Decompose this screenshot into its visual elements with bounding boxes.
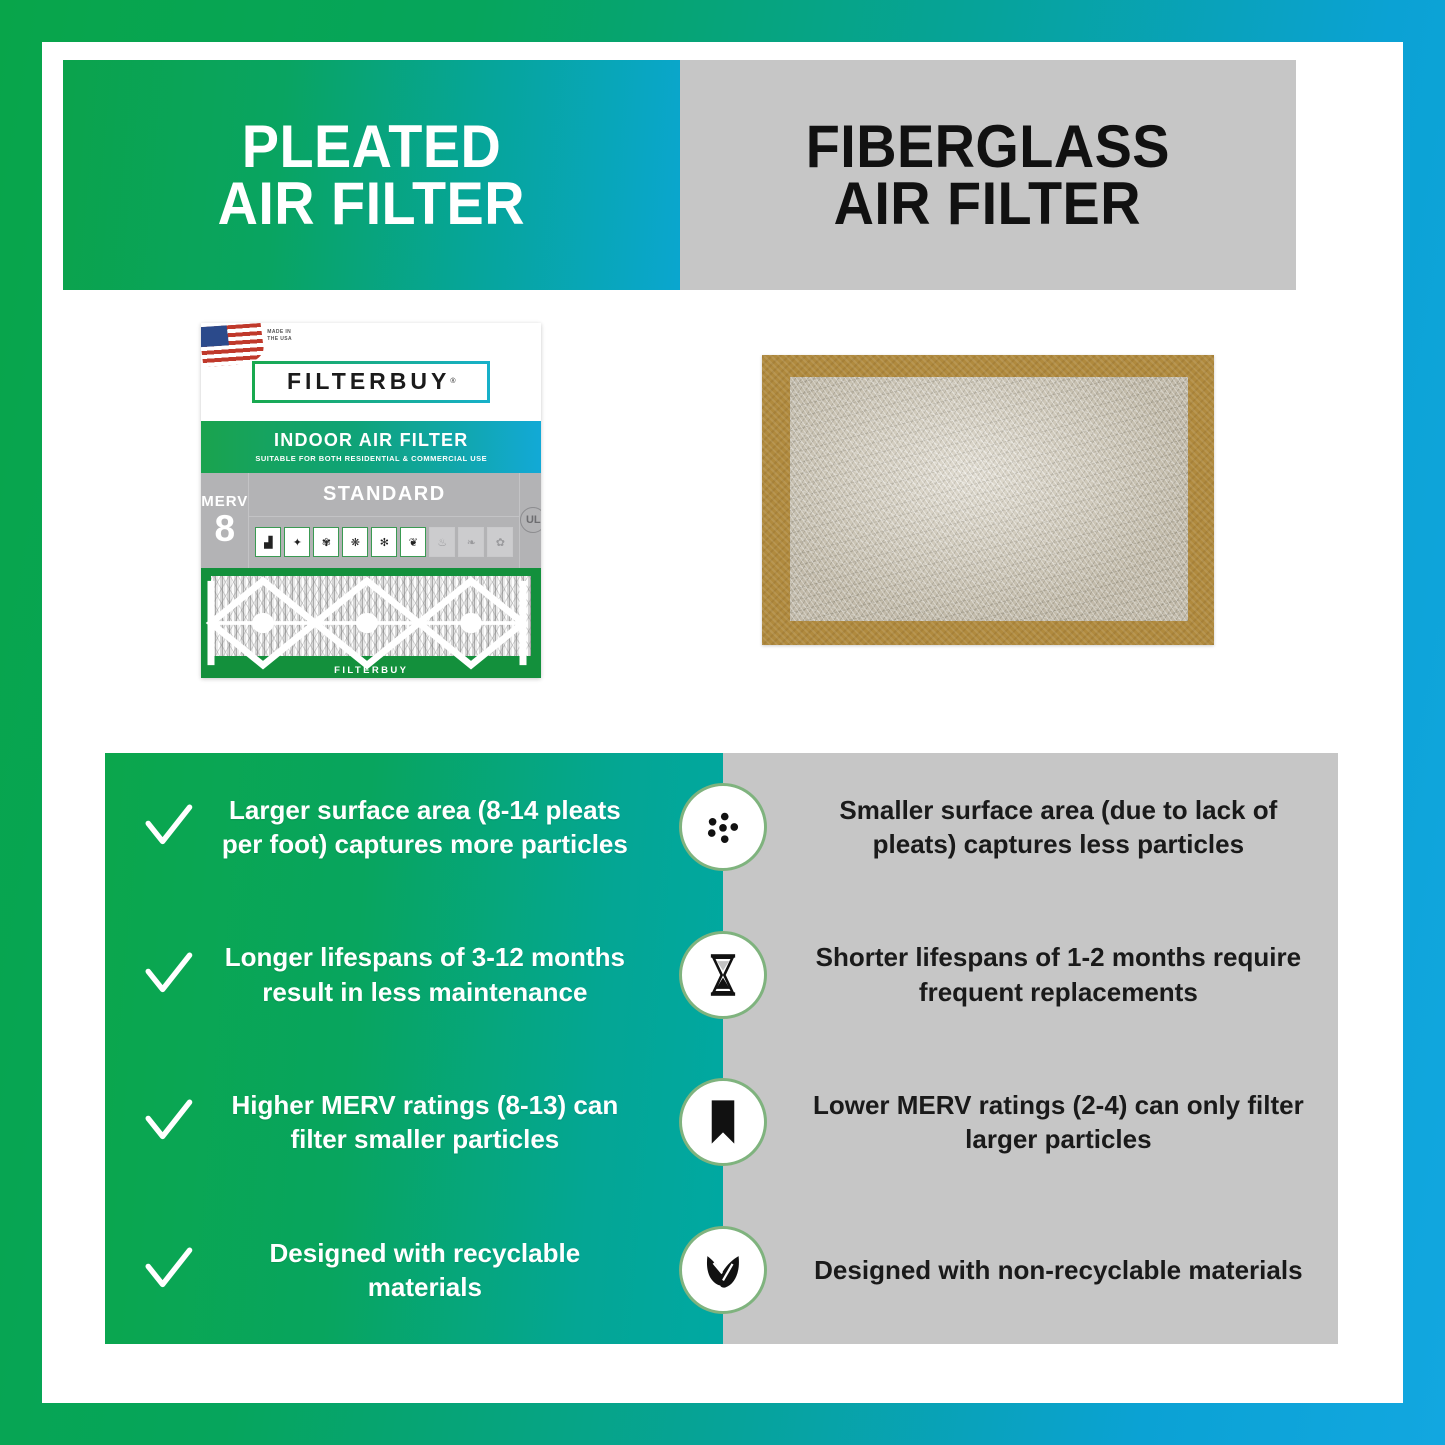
filtration-icon-row: ▟ ✦ ✾ ❋ ✻ ❦ ♨ ❧ ✿: [248, 517, 519, 568]
brand-name: FILTERBUY: [287, 368, 450, 395]
product-image-band: MADE INTHE USA FILTERBUY® INDOOR AIR FIL…: [63, 290, 1296, 710]
check-icon: [141, 948, 195, 1002]
comparison-left-text: Higher MERV ratings (8-13) can filter sm…: [209, 1088, 641, 1157]
comparison-row: Higher MERV ratings (8-13) can filter sm…: [105, 1049, 1338, 1197]
comparison-left-text: Designed with recyclable materials: [209, 1236, 641, 1305]
lint-icon: ✻: [371, 527, 397, 557]
comparison-row: Longer lifespans of 3-12 months result i…: [105, 901, 1338, 1049]
comparison-left-cell: Higher MERV ratings (8-13) can filter sm…: [105, 1088, 723, 1157]
mold-icon: ❋: [342, 527, 368, 557]
merv-value: 8: [215, 510, 236, 547]
comparison-left-text: Larger surface area (8-14 pleats per foo…: [209, 793, 641, 862]
pleated-filter-media: FILTERBUY: [201, 568, 541, 678]
header-band: PLEATED AIR FILTER FIBERGLASS AIR FILTER: [63, 60, 1296, 290]
comparison-right-text: Smaller surface area (due to lack of ple…: [723, 793, 1338, 862]
pleated-product-cell: MADE INTHE USA FILTERBUY® INDOOR AIR FIL…: [63, 290, 680, 710]
certification-column: UL: [519, 473, 541, 568]
bacteria-icon: ❧: [458, 527, 484, 557]
comparison-right-text: Shorter lifespans of 1-2 months require …: [723, 940, 1338, 1009]
bookmark-icon: [679, 1078, 767, 1166]
trademark-symbol: ®: [450, 378, 455, 385]
hourglass-icon: [679, 931, 767, 1019]
package-band-title: INDOOR AIR FILTER: [274, 430, 468, 451]
fiberglass-media-texture: [790, 377, 1188, 621]
made-in-usa-label: MADE INTHE USA: [267, 329, 292, 344]
leaf-icon: [679, 1226, 767, 1314]
merv-rating-block: MERV 8: [201, 473, 248, 568]
comparison-row: Larger surface area (8-14 pleats per foo…: [105, 753, 1338, 901]
header-fiberglass-line2: AIR FILTER: [834, 175, 1141, 232]
comparison-left-text: Longer lifespans of 3-12 months result i…: [209, 940, 641, 1009]
package-spec-section: MERV 8 STANDARD ▟ ✦ ✾ ❋ ✻ ❦ ♨ ❧ ✿: [201, 473, 541, 568]
comparison-left-cell: Designed with recyclable materials: [105, 1236, 723, 1305]
filter-support-mesh: [201, 568, 541, 678]
filterbuy-package-image: MADE INTHE USA FILTERBUY® INDOOR AIR FIL…: [201, 323, 541, 678]
header-fiberglass-line1: FIBERGLASS: [806, 118, 1170, 175]
particles-icon: [679, 783, 767, 871]
header-fiberglass: FIBERGLASS AIR FILTER: [680, 60, 1297, 290]
grade-label: STANDARD: [248, 473, 519, 517]
check-icon: [141, 1243, 195, 1297]
comparison-right-text: Designed with non-recyclable materials: [723, 1253, 1338, 1287]
comparison-left-cell: Larger surface area (8-14 pleats per foo…: [105, 793, 723, 862]
package-top-section: MADE INTHE USA FILTERBUY®: [201, 323, 541, 421]
header-pleated-line1: PLEATED: [241, 118, 501, 175]
pet-dander-icon: ❦: [400, 527, 426, 557]
pollen-icon: ✾: [313, 527, 339, 557]
fiberglass-filter-image: [762, 355, 1214, 645]
header-pleated-line2: AIR FILTER: [218, 175, 525, 232]
virus-icon: ✿: [487, 527, 513, 557]
brand-logo-box: FILTERBUY®: [252, 361, 490, 403]
fiberglass-product-cell: [680, 290, 1297, 710]
package-band-subtitle: SUITABLE FOR BOTH RESIDENTIAL & COMMERCI…: [255, 454, 487, 463]
grade-column: STANDARD ▟ ✦ ✾ ❋ ✻ ❦ ♨ ❧ ✿: [248, 473, 519, 568]
smoke-icon: ♨: [429, 527, 455, 557]
check-icon: [141, 800, 195, 854]
comparison-row: Designed with recyclable materials Desig…: [105, 1196, 1338, 1344]
comparison-right-text: Lower MERV ratings (2-4) can only filter…: [723, 1088, 1338, 1157]
header-pleated: PLEATED AIR FILTER: [63, 60, 680, 290]
ul-certification-icon: UL: [520, 507, 541, 533]
package-title-band: INDOOR AIR FILTER SUITABLE FOR BOTH RESI…: [201, 421, 541, 473]
check-icon: [141, 1095, 195, 1149]
package-footer-brand: FILTERBUY: [201, 665, 541, 676]
comparison-panel: Larger surface area (8-14 pleats per foo…: [105, 753, 1338, 1344]
comparison-left-cell: Longer lifespans of 3-12 months result i…: [105, 940, 723, 1009]
dust-icon: ▟: [255, 527, 281, 557]
dust-mites-icon: ✦: [284, 527, 310, 557]
